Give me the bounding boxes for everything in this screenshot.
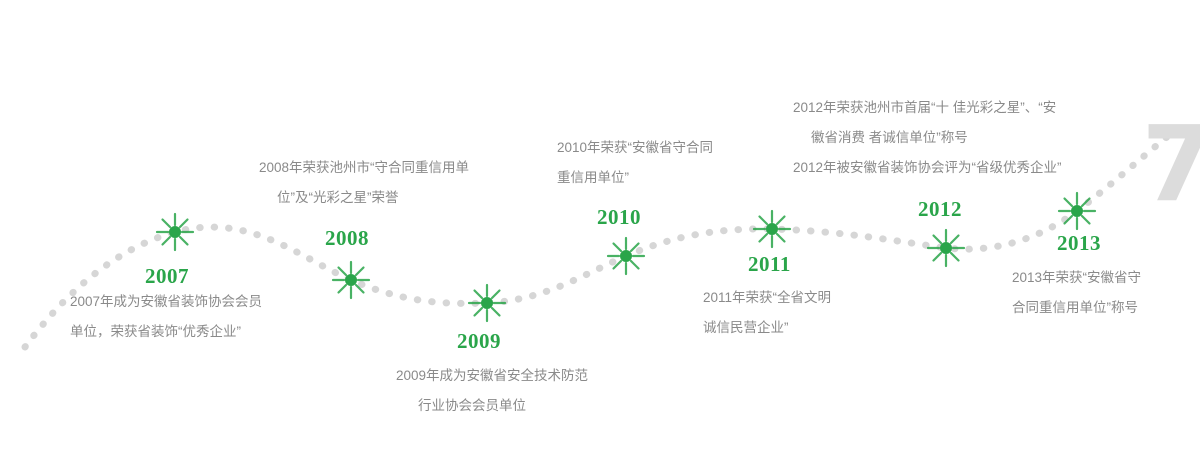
description-line: 行业协会会员单位	[396, 391, 588, 421]
description-line: 2012年被安徽省装饰协会评为“省级优秀企业”	[793, 153, 1062, 183]
description-2008: 2008年荣获池州市“守合同重信用单 位”及“光彩之星”荣誉	[259, 153, 469, 213]
description-line: 徽省消费 者诚信单位”称号	[793, 123, 1062, 153]
year-label-2008: 2008	[325, 226, 369, 251]
starburst-icon	[467, 283, 507, 323]
description-line: 合同重信用单位”称号	[1012, 293, 1141, 323]
description-2010: 2010年荣获“安徽省守合同 重信用单位”	[557, 133, 713, 193]
year-label-2011: 2011	[748, 252, 791, 277]
year-label-2013: 2013	[1057, 231, 1101, 256]
description-line: 位”及“光彩之星”荣誉	[259, 183, 469, 213]
description-line: 单位，荣获省装饰“优秀企业”	[70, 317, 262, 347]
description-line: 2010年荣获“安徽省守合同	[557, 133, 713, 163]
starburst-icon	[1057, 191, 1097, 231]
description-line: 重信用单位”	[557, 163, 713, 193]
decorative-seven-watermark: 7	[1142, 112, 1200, 216]
timeline-infographic: 7 2007 2007年成为安徽省装饰协会会员 单位，荣获省装饰“优秀企业”	[0, 0, 1200, 465]
description-line: 诚信民营企业”	[703, 313, 831, 343]
description-line: 2008年荣获池州市“守合同重信用单	[259, 153, 469, 183]
starburst-icon	[752, 209, 792, 249]
description-2011: 2011年荣获“全省文明 诚信民营企业”	[703, 283, 831, 343]
year-label-2010: 2010	[597, 205, 641, 230]
description-2013: 2013年荣获“安徽省守 合同重信用单位”称号	[1012, 263, 1141, 323]
year-label-2007: 2007	[145, 264, 189, 289]
year-label-2012: 2012	[918, 197, 962, 222]
starburst-icon	[606, 236, 646, 276]
description-line: 2011年荣获“全省文明	[703, 283, 831, 313]
description-2009: 2009年成为安徽省安全技术防范 行业协会会员单位	[396, 361, 588, 421]
description-2012: 2012年荣获池州市首届“十 佳光彩之星”、“安 徽省消费 者诚信单位”称号 2…	[793, 93, 1062, 183]
starburst-icon	[155, 212, 195, 252]
starburst-icon	[926, 228, 966, 268]
description-line: 2009年成为安徽省安全技术防范	[396, 361, 588, 391]
year-label-2009: 2009	[457, 329, 501, 354]
description-2007: 2007年成为安徽省装饰协会会员 单位，荣获省装饰“优秀企业”	[70, 287, 262, 347]
description-line: 2007年成为安徽省装饰协会会员	[70, 287, 262, 317]
description-line: 2013年荣获“安徽省守	[1012, 263, 1141, 293]
description-line: 2012年荣获池州市首届“十 佳光彩之星”、“安	[793, 93, 1062, 123]
starburst-icon	[331, 260, 371, 300]
